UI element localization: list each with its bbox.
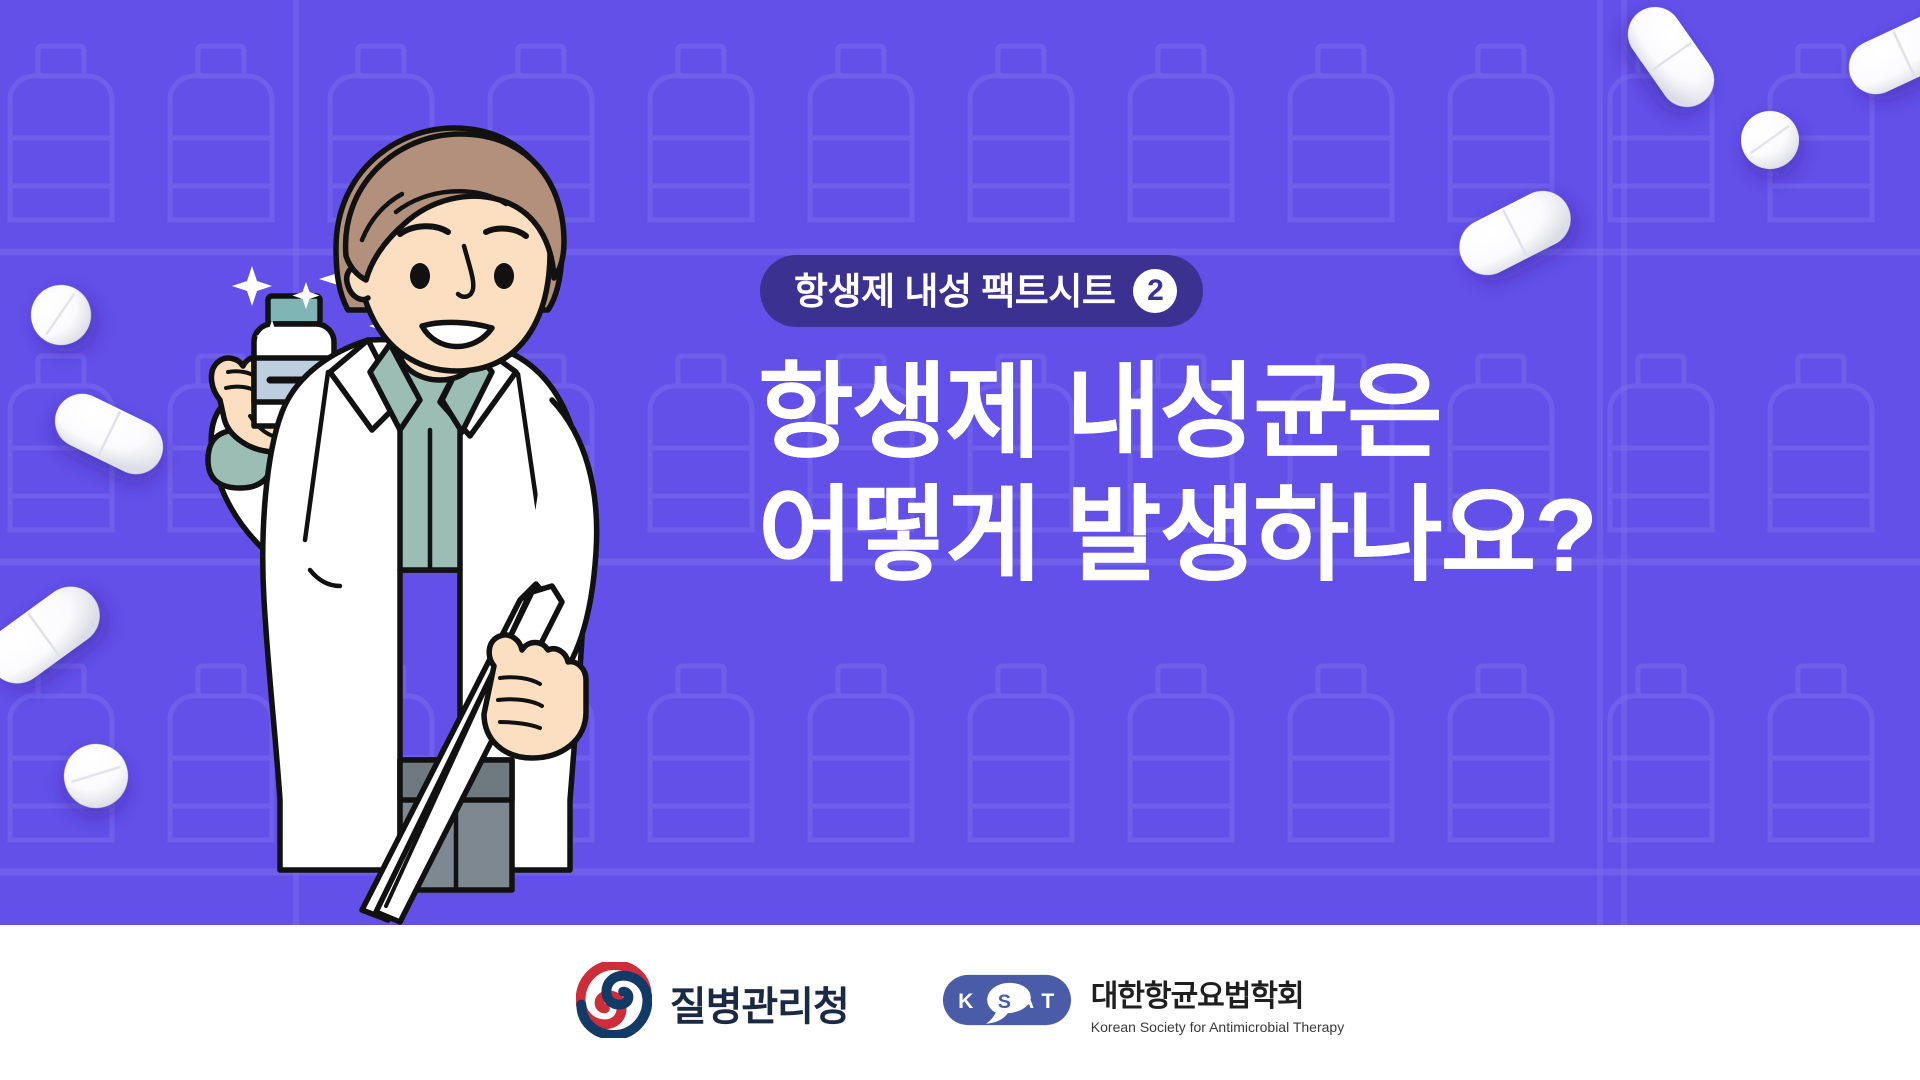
svg-text:A: A: [1019, 990, 1034, 1013]
headline-line-1: 항생제 내성균은: [758, 352, 1596, 475]
headline-line-2: 어떻게 발생하나요?: [758, 475, 1596, 598]
hero-band: 항생제 내성 팩트시트 2 항생제 내성균은 어떻게 발생하나요?: [0, 0, 1920, 925]
card-news-slide: 항생제 내성 팩트시트 2 항생제 내성균은 어떻게 발생하나요? 질병관리청: [0, 0, 1920, 1080]
svg-text:T: T: [1041, 990, 1054, 1013]
ksat-name-kr: 대한항균요법학회: [1091, 971, 1344, 1015]
ksat-name-en: Korean Society for Antimicrobial Therapy: [1091, 1019, 1344, 1035]
svg-text:K: K: [958, 990, 974, 1013]
pill-tablet-right-1: [1738, 108, 1802, 172]
kdca-name: 질병관리청: [670, 974, 849, 1032]
svg-text:S: S: [998, 991, 1011, 1013]
ksat-mark-icon: K S A T: [941, 967, 1073, 1038]
doctor-illustration: [100, 100, 760, 925]
fact-sheet-badge: 항생제 내성 팩트시트 2: [760, 255, 1203, 327]
badge-number: 2: [1133, 269, 1177, 313]
kdca-logo: 질병관리청: [576, 962, 849, 1043]
taegeuk-icon: [576, 962, 652, 1043]
badge-label: 항생제 내성 팩트시트: [794, 273, 1115, 310]
ksat-logo: K S A T 대한항균요법학회 Korean Society for Anti…: [941, 967, 1344, 1038]
ksat-name-block: 대한항균요법학회 Korean Society for Antimicrobia…: [1091, 971, 1344, 1035]
footer-logo-bar: 질병관리청 K S A T 대한항균요법학회 Korean Society fo…: [0, 925, 1920, 1080]
page-title: 항생제 내성균은 어떻게 발생하나요?: [758, 352, 1596, 597]
